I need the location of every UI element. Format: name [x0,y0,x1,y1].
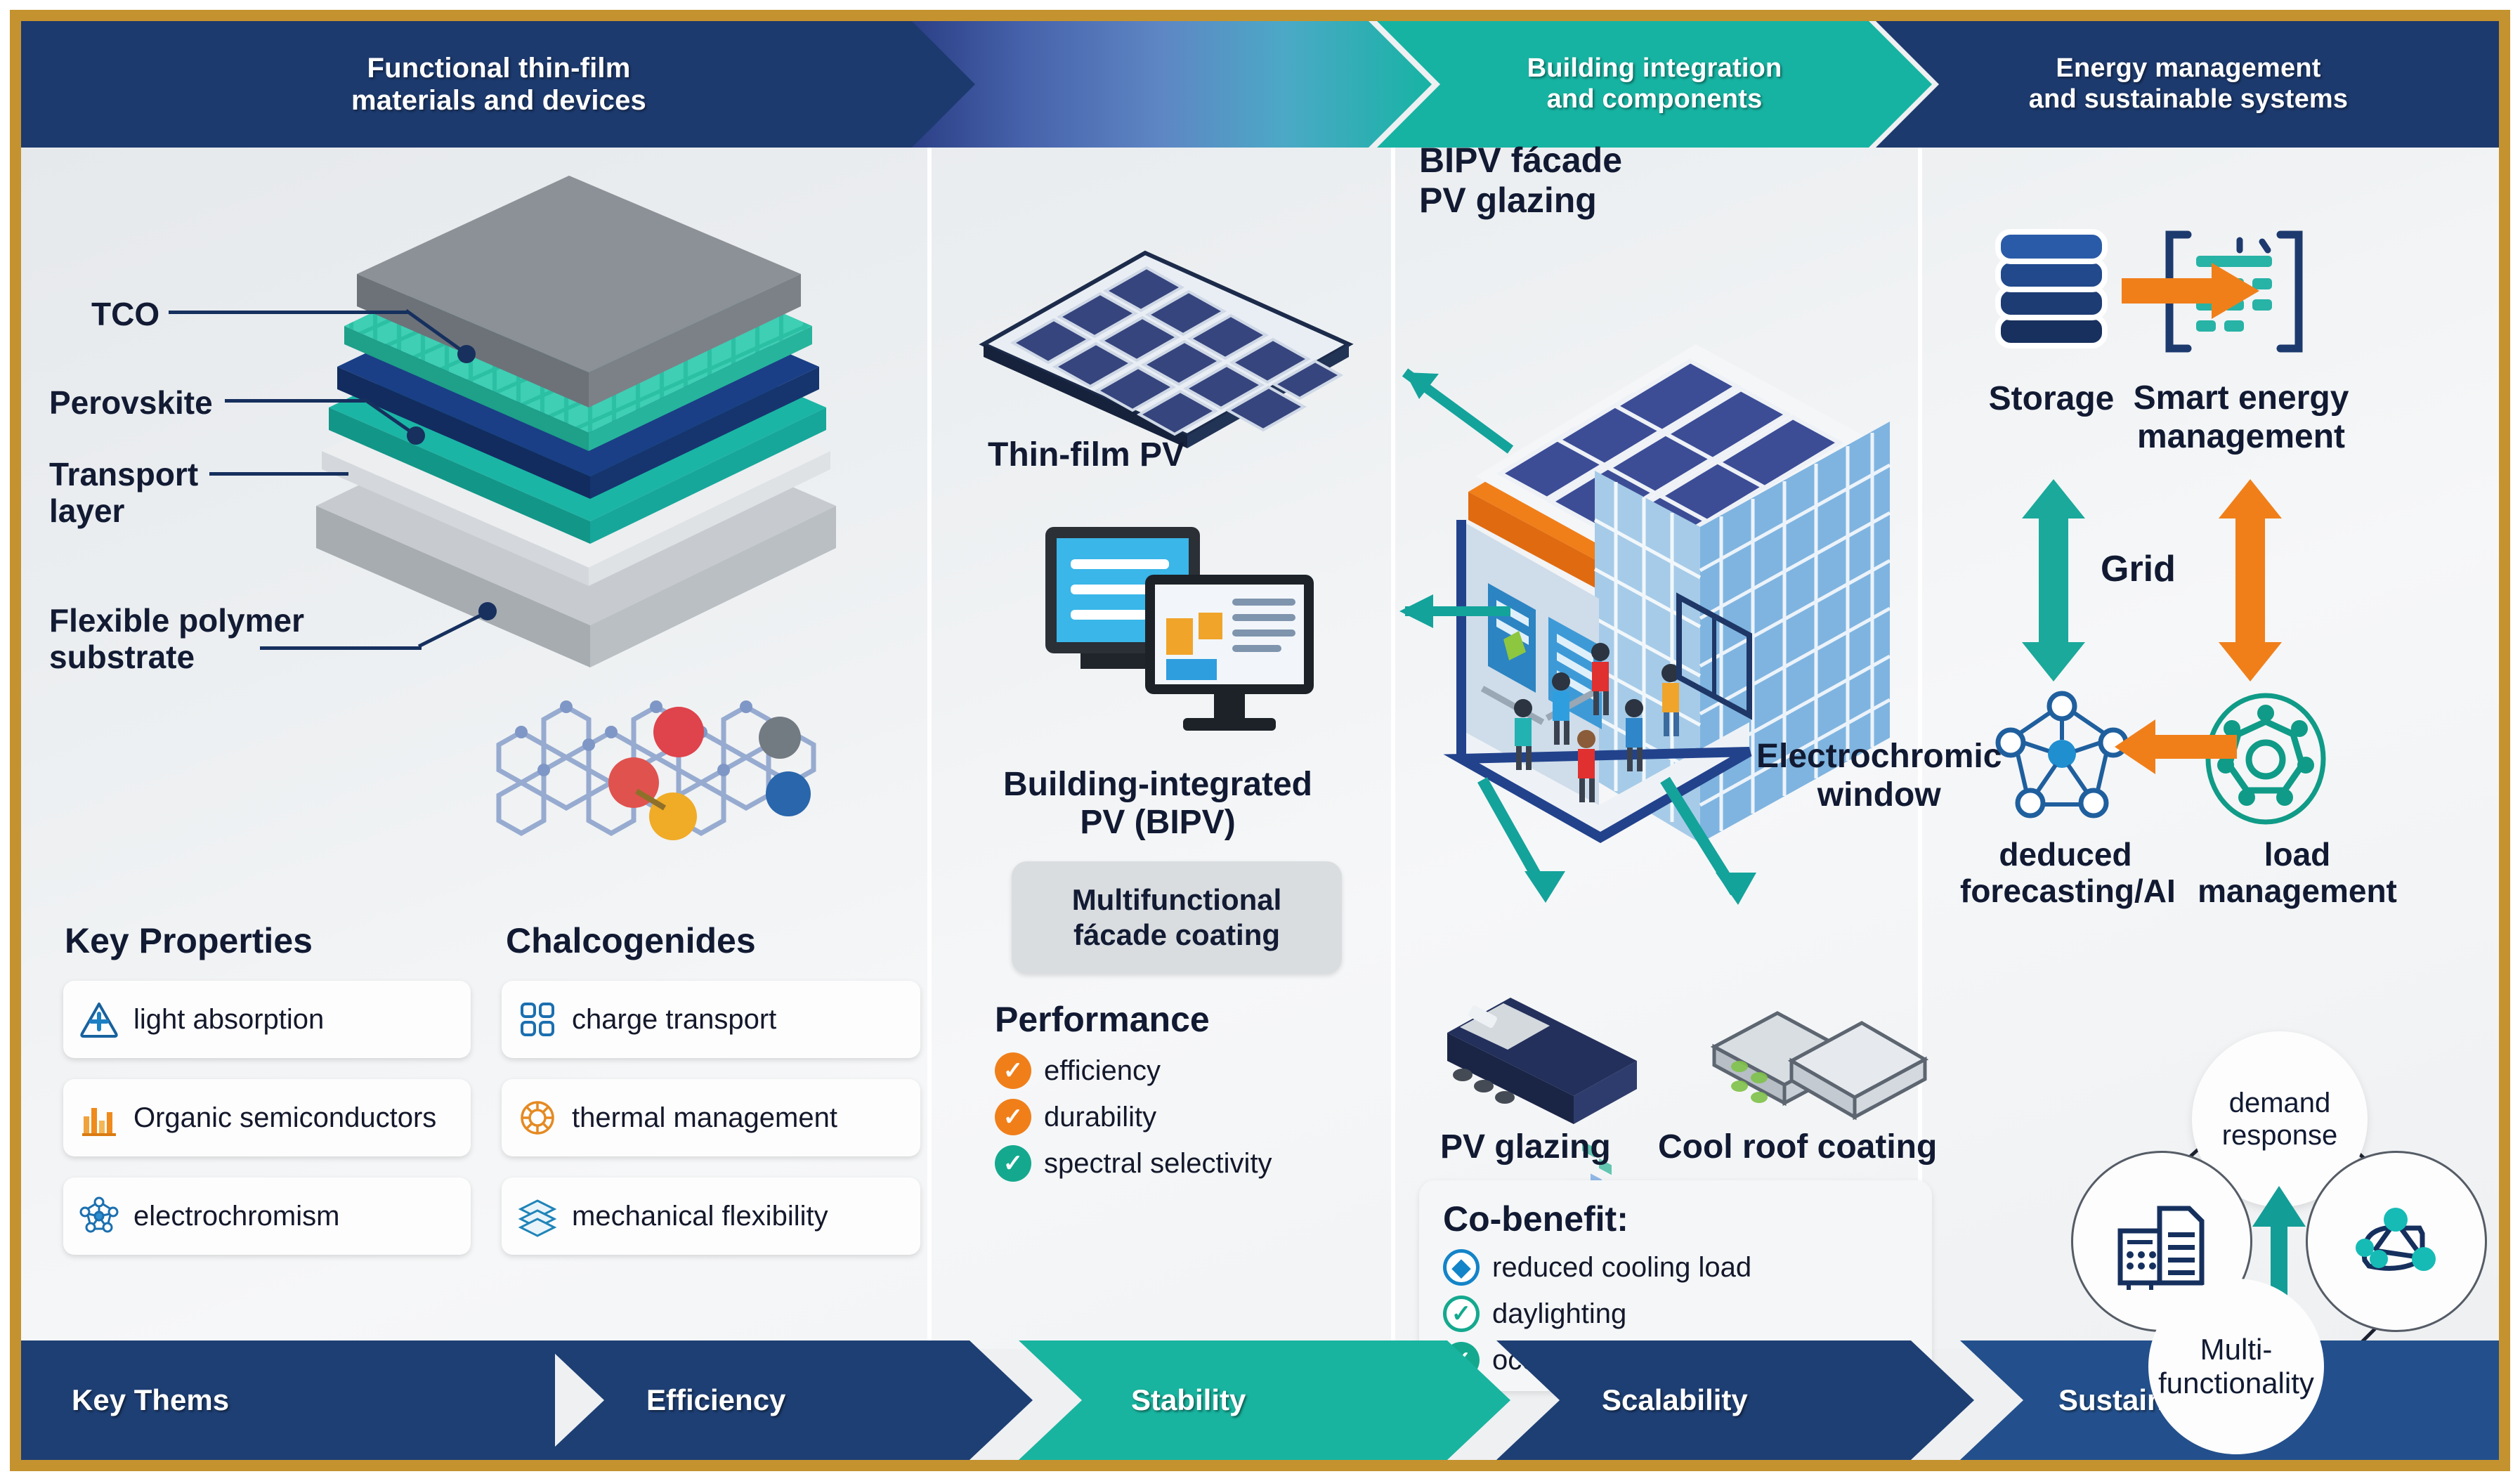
arrow-load-to-forecasting [2115,717,2241,780]
thin-film-pv-label: Thin-film PV [988,436,1184,474]
figure-frame: Functional thin-film materials and devic… [10,10,2510,1471]
layers-stack-icon [517,1196,558,1237]
pv-glazing-label: PV glazing [1440,1128,1611,1166]
cool-roof-coating-label: Cool roof coating [1658,1128,1937,1166]
co-benefit-title: Co-benefit: [1443,1199,1908,1239]
graphene-lattice-illustration [471,667,864,899]
double-arrow-teal-grid [2016,478,2094,681]
performance-item-efficiency[interactable]: ✓ efficiency [995,1052,1272,1089]
top-process-banner: Functional thin-film materials and devic… [21,21,2499,148]
stack-label-perovskite: Perovskite [49,384,213,422]
co-benefit-item-reduced-cooling-load[interactable]: ◆ reduced cooling load [1443,1249,1908,1286]
leader-kink-tco [406,311,490,360]
bottom-label: Stability [1131,1383,1246,1417]
demand-line-2: response [2222,1120,2338,1151]
stack-label-flexible-polymer-substrate: Flexible polymer substrate [49,603,304,675]
bottom-item-efficiency[interactable]: Efficiency [541,1340,1033,1460]
chip-mechanical-flexibility[interactable]: mechanical flexibility [502,1177,920,1255]
arrow-building-to-thinfilm [1300,274,1539,710]
molecule-network-icon [79,1196,119,1237]
leader-line-transport [209,472,348,476]
banner-line-2: materials and devices [351,85,646,116]
facade-line-2: fácade coating [1073,918,1280,951]
bipv-monitors-icon [1040,520,1335,752]
cool-roof-coating-icon [1686,955,1939,1131]
atom-blue [766,771,811,816]
chip-label: thermal management [572,1102,837,1134]
chip-organic-semiconductors[interactable]: Organic semiconductors [63,1079,471,1156]
chip-label: electrochromism [133,1201,339,1232]
chip-label: light absorption [133,1004,324,1036]
network-nodes-node[interactable] [2306,1151,2487,1332]
multifunctional-facade-pill[interactable]: Multifunctional fácade coating [1012,861,1342,974]
chip-light-absorption[interactable]: light absorption [63,981,471,1058]
performance-group: Performance ✓ efficiency ✓ durability ✓ … [995,999,1272,1192]
check-circle-icon: ✓ [995,1052,1031,1089]
atom-red-1 [653,707,704,757]
thermal-target-icon [517,1097,558,1138]
performance-label: spectral selectivity [1044,1148,1272,1180]
smart-line-2: management [2137,418,2345,455]
chip-thermal-management[interactable]: thermal management [502,1079,920,1156]
chip-charge-transport[interactable]: charge transport [502,981,920,1058]
pv-glazing-device-icon [1426,955,1665,1131]
check-circle-icon: ✓ [995,1145,1031,1182]
graphical-abstract-canvas: Functional thin-film materials and devic… [0,0,2520,1481]
leader-kink-perovskite [364,399,441,448]
co-benefit-label: daylighting [1492,1298,1626,1330]
atom-orange [649,792,697,840]
leader-line-substrate [260,646,422,650]
bottom-item-key-thems[interactable]: Key Thems [21,1340,555,1460]
check-circle-icon: ✓ [995,1099,1031,1135]
storage-label: Storage [1981,379,2122,418]
substrate-line-1: Flexible polymer [49,602,304,639]
substrate-line-2: substrate [49,639,195,675]
panel-divider-left [927,148,932,1349]
performance-label: efficiency [1044,1055,1161,1087]
network-nodes-icon [2344,1189,2449,1294]
multi-line-2: functionality [2158,1366,2314,1400]
multi-functionality-node[interactable]: Multi- functionality [2148,1279,2324,1454]
transport-line-2: layer [49,492,124,529]
banner-line-1: Functional thin-film [367,53,630,84]
grid-label: Grid [2101,548,2176,590]
co-benefit-item-daylighting[interactable]: ✓ daylighting [1443,1296,1908,1332]
bipv-label: Building-integrated PV (BIPV) [975,766,1340,842]
light-absorption-icon [79,999,119,1040]
stack-label-transport-layer: Transport layer [49,457,198,529]
bottom-item-scalability[interactable]: Scalability [1496,1340,1974,1460]
banner-line-1: Building integration [1527,53,1782,83]
diamond-ring-icon: ◆ [1443,1249,1480,1286]
arrow-storage-to-smart-energy [2122,260,2262,323]
chip-label: charge transport [572,1004,776,1036]
facade-line-1: Multifunctional [1072,883,1282,916]
bottom-label: Key Thems [72,1383,229,1417]
bipv-line-1: Building-integrated [1003,766,1312,803]
storage-icon [1981,218,2122,365]
grid-four-icon [517,999,558,1040]
chip-electrochromism[interactable]: electrochromism [63,1177,471,1255]
chalcogenides-title: Chalcogenides [506,920,756,961]
banner-segment-functional-thin-film[interactable]: Functional thin-film materials and devic… [21,21,977,148]
load-management-label: load management [2192,836,2403,910]
demand-line-1: demand [2229,1088,2331,1118]
transport-line-1: Transport [49,456,198,492]
forecasting-ai-label: deduced forecasting/AI [1960,836,2171,910]
performance-label: durability [1044,1102,1156,1133]
banner-segment-gradient-connector [912,21,1432,148]
smart-line-1: Smart energy [2134,379,2349,417]
forecasting-ai-network-icon [1995,692,2129,826]
arrows-building-to-products [1440,766,1834,963]
performance-title: Performance [995,999,1272,1040]
check-ring-icon: ✓ [1443,1296,1480,1332]
banner-line-2: and sustainable systems [2029,84,2348,114]
stack-label-tco: TCO [91,295,159,333]
double-arrow-orange-grid [2213,478,2290,681]
leader-line-perovskite [225,399,365,403]
forecast-line-1: deduced [1999,836,2131,873]
forecast-line-2: forecasting/AI [1960,873,2176,909]
atom-grey [759,717,801,759]
key-properties-title: Key Properties [65,920,313,961]
smart-energy-management-label: Smart energy management [2129,379,2353,456]
performance-item-spectral-selectivity[interactable]: ✓ spectral selectivity [995,1145,1272,1182]
bottom-label: Efficiency [646,1383,785,1417]
figure-body: TCO Perovskite Transport layer Flexible … [21,148,2499,1349]
building-document-icon [2109,1189,2214,1294]
co-benefit-label: reduced cooling load [1492,1252,1751,1284]
multi-line-1: Multi- [2200,1333,2273,1366]
performance-item-durability[interactable]: ✓ durability [995,1099,1272,1135]
bottom-label: Scalability [1602,1383,1748,1417]
bar-chart-icon [79,1097,119,1138]
bottom-key-themes-banner: Key Thems Efficiency Stability Scalabili… [21,1340,2499,1460]
bipv-line-2: PV (BIPV) [1080,804,1235,841]
layered-device-stack-illustration [232,176,906,710]
chip-label: Organic semiconductors [133,1102,436,1134]
banner-line-1: Energy management [2056,53,2320,83]
leader-kink-substrate [419,614,510,656]
load-line-2: management [2198,873,2397,909]
load-line-1: load [2264,836,2331,873]
banner-line-2: and components [1547,84,1763,114]
leader-line-tco [169,311,407,314]
banner-segment-energy-management[interactable]: Energy management and sustainable system… [1876,21,2499,148]
bottom-item-stability[interactable]: Stability [1019,1340,1510,1460]
chip-label: mechanical flexibility [572,1201,828,1232]
